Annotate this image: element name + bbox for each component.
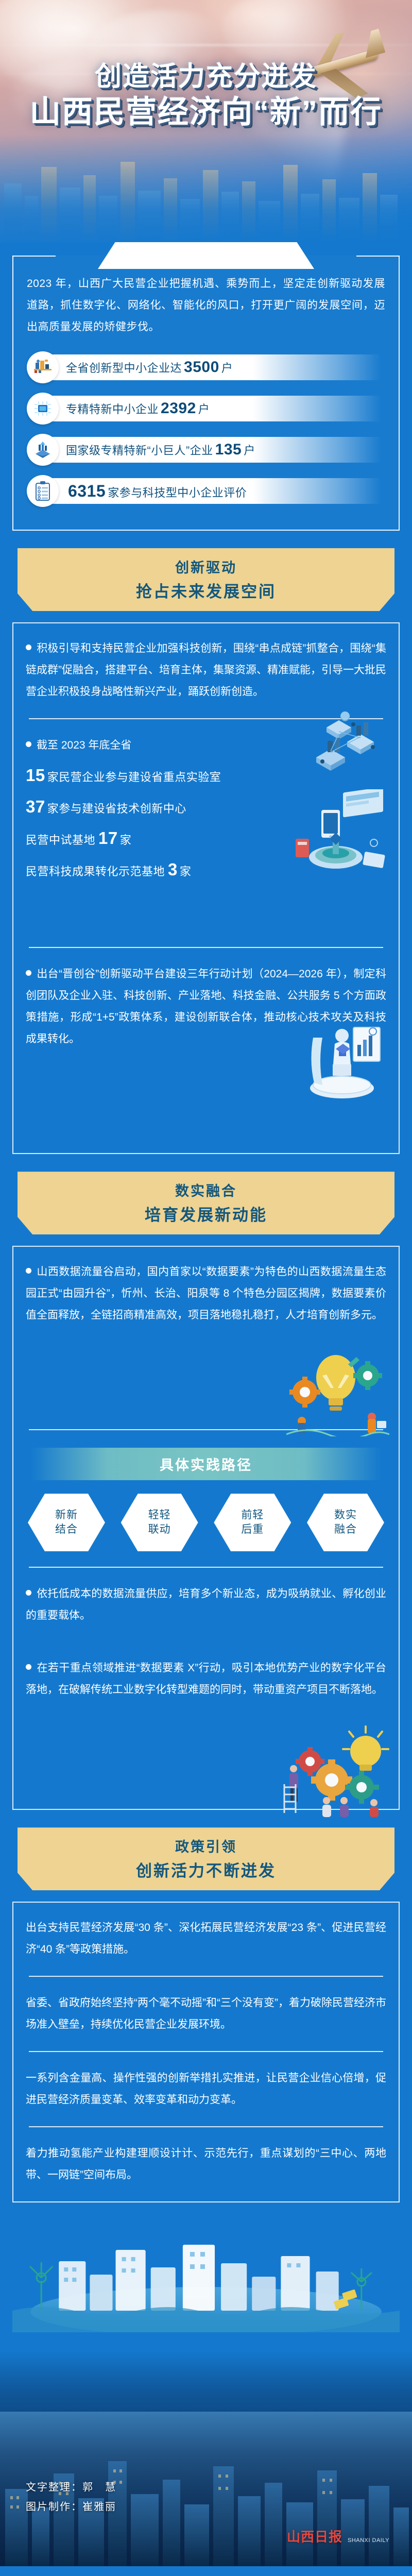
number-line: 民营科技成果转化示范基地3家 (26, 854, 386, 885)
stat-suffix: 家参与科技型中小企业评价 (108, 486, 247, 499)
divider (29, 2126, 383, 2127)
number-list: 15家民营企业参与建设省重点实验室 37家参与建设省技术创新中心 民营中试基地1… (26, 759, 386, 885)
chip-icon (27, 393, 59, 425)
practice-tag-line-2: 融合 (334, 1522, 357, 1537)
infographic-page: 创造活力充分迸发 山西民营经济向“新”而行 2023 年，山西广大民营企业把握机… (0, 0, 412, 2576)
bullet-paragraph: 在若干重点领域推进“数据要素 X”行动，吸引本地优势产业的数字化平台落地，在破解… (26, 1657, 386, 1701)
bullet-text: 在若干重点领域推进“数据要素 X”行动，吸引本地优势产业的数字化平台落地，在破解… (26, 1662, 386, 1696)
section-head-line-1: 政策引领 (23, 1836, 389, 1856)
section-head-line-1: 创新驱动 (23, 556, 389, 577)
brand-name-cn: 山西日报 (287, 2527, 342, 2546)
section-head-line-2: 创新活力不断迸发 (23, 1858, 389, 1881)
stat-row: 国家级专精特新“小巨人”企业135户 (27, 434, 385, 466)
stat-suffix: 户 (244, 444, 255, 457)
credits: 文字整理：郭 慧 图片制作：崔雅丽 (26, 2478, 116, 2517)
credit-text-editor: 文字整理：郭 慧 (26, 2478, 116, 2497)
energy-city-icon (12, 2214, 400, 2332)
intro-frame: 2023 年，山西广大民营企业把握机遇、乘势而上，坚定走创新驱动发展道路，抓住数… (12, 256, 400, 531)
stat-label: 全省创新型中小企业达3500户 (66, 359, 233, 376)
practice-tag[interactable]: 前轻 后重 (214, 1494, 291, 1551)
frame-notch (98, 242, 314, 269)
bullet-text: 依托低成本的数据流量供应，培育多个新业态，成为吸纳就业、孵化创业的重要载体。 (26, 1588, 386, 1621)
practice-tag-line-1: 新新 (55, 1508, 78, 1522)
factory-icon (27, 351, 59, 383)
brand-logo: 山西日报 SHANXI DAILY (287, 2527, 389, 2546)
number-line: 15家民营企业参与建设省重点实验室 (26, 759, 386, 791)
stat-prefix: 专精特新中小企业 (66, 403, 159, 416)
bullet-dot (26, 1268, 31, 1274)
bullet-dot (26, 741, 31, 747)
credit-image-editor: 图片制作：崔雅丽 (26, 2497, 116, 2517)
stat-row: 全省创新型中小企业达3500户 (27, 351, 385, 383)
title-line-2: 山西民营经济向“新”而行 (0, 95, 412, 129)
divider (29, 2051, 383, 2052)
section-card-innovation: 积极引导和支持民营企业加强科技创新，围绕“串点成链”抓整合，围绕“集链成群”促融… (12, 622, 400, 1154)
bullet-dot (26, 1664, 31, 1670)
number-text: 家参与建设省技术创新中心 (47, 802, 186, 815)
people-growth-icon (27, 434, 59, 466)
number-text: 家民营企业参与建设省重点实验室 (47, 771, 221, 784)
practice-tag-list: 新新 结合 轻轻 联动 前轻 后重 数实 融合 (28, 1494, 384, 1551)
number-lead: 15 (26, 766, 47, 785)
stat-prefix: 全省创新型中小企业达 (66, 362, 182, 375)
policy-paragraph: 省委、省政府始终坚持“两个毫不动摇”和“三个没有变”，着力破除民营经济市场准入壁… (26, 1992, 386, 2036)
bullet-dot (26, 1590, 31, 1596)
stat-value: 2392 (159, 400, 198, 417)
stat-value: 135 (213, 441, 244, 458)
section-header-policy: 政策引领 创新活力不断迸发 (18, 1827, 394, 1890)
number-trail: 3 (165, 860, 180, 879)
divider (29, 718, 383, 719)
divider (29, 947, 383, 948)
section-head-line-2: 培育发展新动能 (23, 1202, 389, 1225)
number-text: 民营科技成果转化示范基地 (26, 865, 165, 878)
number-trail: 17 (95, 828, 120, 848)
intro-section: 2023 年，山西广大民营企业把握机遇、乘势而上，坚定走创新驱动发展道路，抓住数… (12, 242, 400, 531)
divider (29, 1567, 383, 1568)
bullet-text: 山西数据流量谷启动，国内首家以“数据要素”为特色的山西数据流量生态园正式“由园升… (26, 1266, 386, 1321)
stat-label: 6315家参与科技型中小企业评价 (66, 482, 247, 501)
section-card-digital: 山西数据流量谷启动，国内首家以“数据要素”为特色的山西数据流量生态园正式“由园升… (12, 1246, 400, 1810)
practice-tag-line-2: 后重 (241, 1522, 264, 1537)
stat-label: 国家级专精特新“小巨人”企业135户 (66, 441, 255, 459)
policy-paragraph: 着力推动氢能产业构建理顺设计计、示范先行，重点谋划的“三中心、两地带、一网链”空… (26, 2143, 386, 2186)
page-footer: 文字整理：郭 慧 图片制作：崔雅丽 山西日报 SHANXI DAILY (0, 2350, 412, 2566)
section-card-policy: 出台支持民营经济发展“30 条”、深化拓展民营经济发展“23 条”、促进民营经济… (12, 1902, 400, 2202)
bullet-text: 积极引导和支持民营企业加强科技创新，围绕“串点成链”抓整合，围绕“集链成群”促融… (26, 642, 386, 698)
stat-suffix: 户 (198, 403, 210, 416)
brand-name-en: SHANXI DAILY (348, 2537, 389, 2546)
number-line: 民营中试基地17家 (26, 822, 386, 854)
bullet-dot (26, 645, 31, 650)
intro-paragraph: 2023 年，山西广大民营企业把握机遇、乘势而上，坚定走创新驱动发展道路，抓住数… (27, 273, 385, 338)
hero-banner: 创造活力充分迸发 山西民营经济向“新”而行 (0, 0, 412, 242)
bullet-lead-text: 截至 2023 年底全省 (37, 739, 131, 751)
bullet-paragraph: 出台“晋创谷”创新驱动平台建设三年行动计划（2024—2026 年），制定科创团… (26, 963, 386, 1050)
practice-tag-line-1: 数实 (334, 1508, 357, 1522)
energy-city-illustration-band (12, 2214, 400, 2332)
section-header-digital: 数实融合 培育发展新动能 (18, 1172, 394, 1234)
section-head-line-2: 抢占未来发展空间 (23, 579, 389, 602)
page-title: 创造活力充分迸发 山西民营经济向“新”而行 (0, 62, 412, 129)
bullet-paragraph: 积极引导和支持民营企业加强科技创新，围绕“串点成链”抓整合，围绕“集链成群”促融… (26, 638, 386, 703)
statistics-list: 全省创新型中小企业达3500户 (27, 351, 385, 507)
stat-row: 专精特新中小企业2392户 (27, 393, 385, 425)
practice-tag-line-1: 轻轻 (148, 1508, 171, 1522)
number-tail: 家 (180, 865, 192, 878)
bullet-paragraph: 依托低成本的数据流量供应，培育多个新业态，成为吸纳就业、孵化创业的重要载体。 (26, 1583, 386, 1626)
clipboard-icon (27, 475, 59, 507)
divider (29, 1976, 383, 1977)
policy-paragraph: 一系列含金量高、操作性强的创新举措扎实推进，让民营企业信心倍增，促进民营经济质量… (26, 2067, 386, 2111)
stat-row: 6315家参与科技型中小企业评价 (27, 475, 385, 507)
bullet-lead: 截至 2023 年底全省 (26, 735, 386, 756)
number-text: 民营中试基地 (26, 834, 95, 846)
stat-value: 6315 (66, 482, 108, 500)
bullet-dot (26, 970, 31, 976)
number-lead: 37 (26, 797, 47, 816)
bullet-text: 出台“晋创谷”创新驱动平台建设三年行动计划（2024—2026 年），制定科创团… (26, 968, 386, 1045)
divider (29, 1429, 383, 1430)
practice-tag[interactable]: 轻轻 联动 (121, 1494, 198, 1551)
section-head-line-1: 数实融合 (23, 1180, 389, 1200)
title-line-1: 创造活力充分迸发 (0, 62, 412, 92)
practice-path-title: 具体实践路径 (31, 1448, 381, 1480)
city-skyline-illustration (0, 134, 412, 242)
bullet-paragraph: 山西数据流量谷启动，国内首家以“数据要素”为特色的山西数据流量生态园正式“由园升… (26, 1261, 386, 1326)
stat-value: 3500 (182, 359, 221, 376)
stat-prefix: 国家级专精特新“小巨人”企业 (66, 444, 213, 457)
number-tail: 家 (120, 834, 132, 846)
stat-suffix: 户 (221, 362, 233, 375)
practice-tag-line-2: 结合 (55, 1522, 78, 1537)
practice-tag-line-1: 前轻 (241, 1508, 264, 1522)
practice-tag-line-2: 联动 (148, 1522, 171, 1537)
section-header-innovation: 创新驱动 抢占未来发展空间 (18, 548, 394, 611)
practice-tag[interactable]: 数实 融合 (307, 1494, 384, 1551)
policy-paragraph: 出台支持民营经济发展“30 条”、深化拓展民营经济发展“23 条”、促进民营经济… (26, 1917, 386, 1960)
number-line: 37家参与建设省技术创新中心 (26, 791, 386, 822)
stat-label: 专精特新中小企业2392户 (66, 400, 210, 417)
practice-tag[interactable]: 新新 结合 (28, 1494, 105, 1551)
